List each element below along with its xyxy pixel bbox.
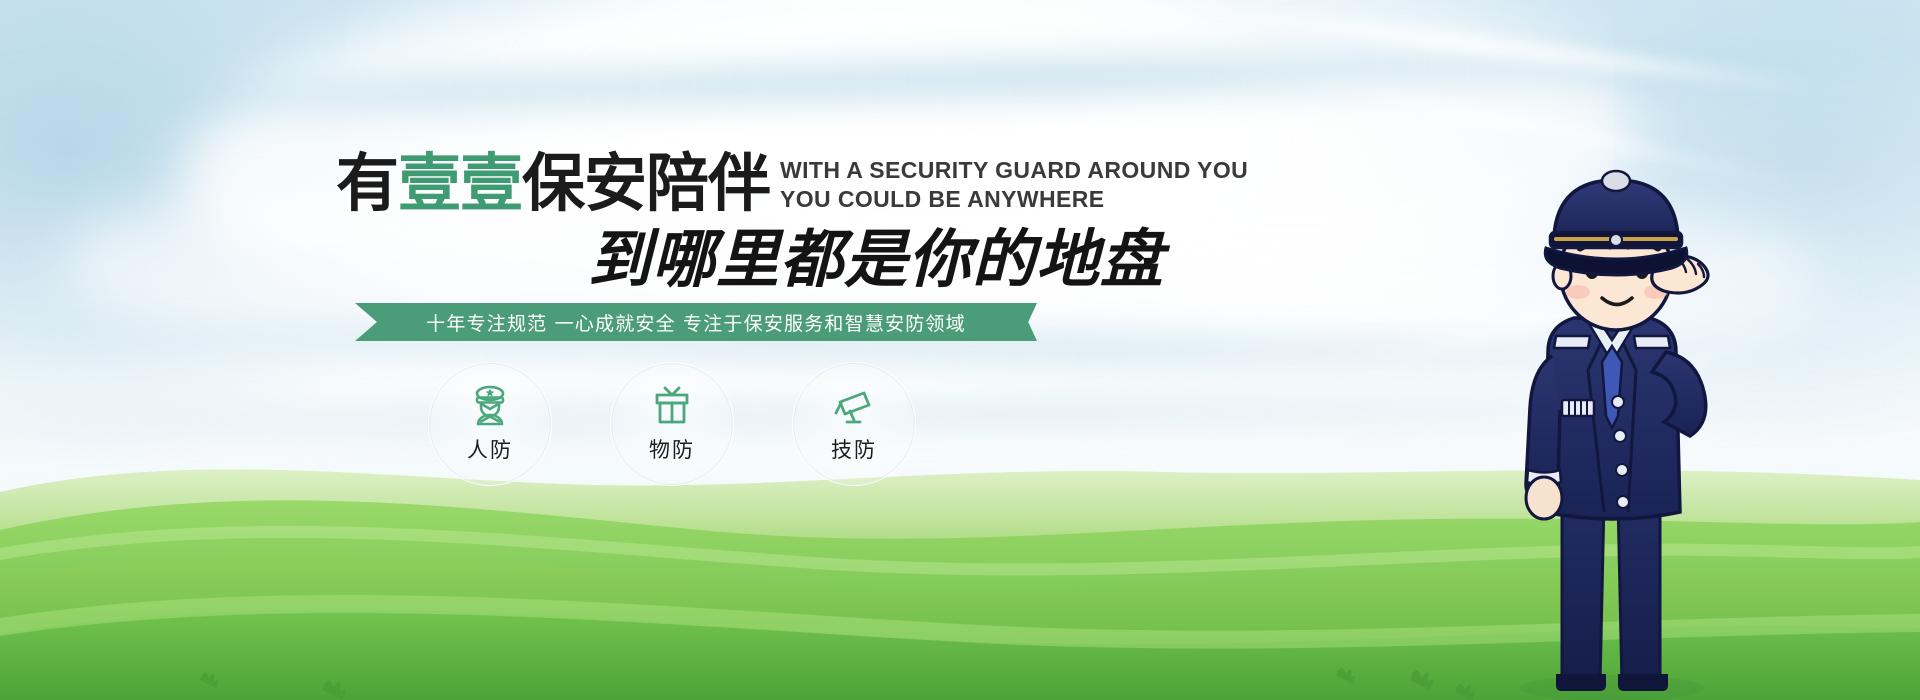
headline-prefix: 有	[336, 147, 398, 220]
english-tagline-block: WITH A SECURITY GUARD AROUND YOU YOU COU…	[780, 156, 1248, 215]
headline-primary-row: 有壹壹保安陪伴 WITH A SECURITY GUARD AROUND YOU…	[336, 152, 1248, 215]
promo-banner: 有壹壹保安陪伴 WITH A SECURITY GUARD AROUND YOU…	[0, 0, 1920, 700]
feature-label: 物防	[649, 434, 695, 464]
saluting-guard-illustration	[1422, 140, 1802, 700]
slogan-ribbon: 十年专注规范 一心成就安全 专注于保安服务和智慧安防领域	[355, 303, 1027, 341]
feature-label: 技防	[831, 434, 877, 464]
english-tagline-line2: YOU COULD BE ANYWHERE	[780, 185, 1248, 214]
feature-item-renfang[interactable]: 人防	[428, 362, 552, 486]
headline-suffix: 保安陪伴	[522, 147, 770, 220]
feature-item-wufang[interactable]: 物防	[610, 362, 734, 486]
headline-brand: 壹壹	[398, 147, 522, 220]
english-tagline-line1: WITH A SECURITY GUARD AROUND YOU	[780, 156, 1248, 185]
feature-circle-list: 人防 物防	[428, 362, 916, 486]
cctv-camera-icon	[828, 384, 880, 430]
feature-label: 人防	[467, 434, 513, 464]
gift-box-icon	[646, 384, 698, 430]
feature-item-jifang[interactable]: 技防	[792, 362, 916, 486]
security-guard-icon	[464, 384, 516, 430]
ribbon-text: 十年专注规范 一心成就安全 专注于保安服务和智慧安防领域	[355, 303, 1027, 341]
headline-chinese-line2: 到哪里都是你的地盘	[588, 228, 1164, 291]
headline-chinese-line1: 有壹壹保安陪伴	[336, 152, 770, 215]
